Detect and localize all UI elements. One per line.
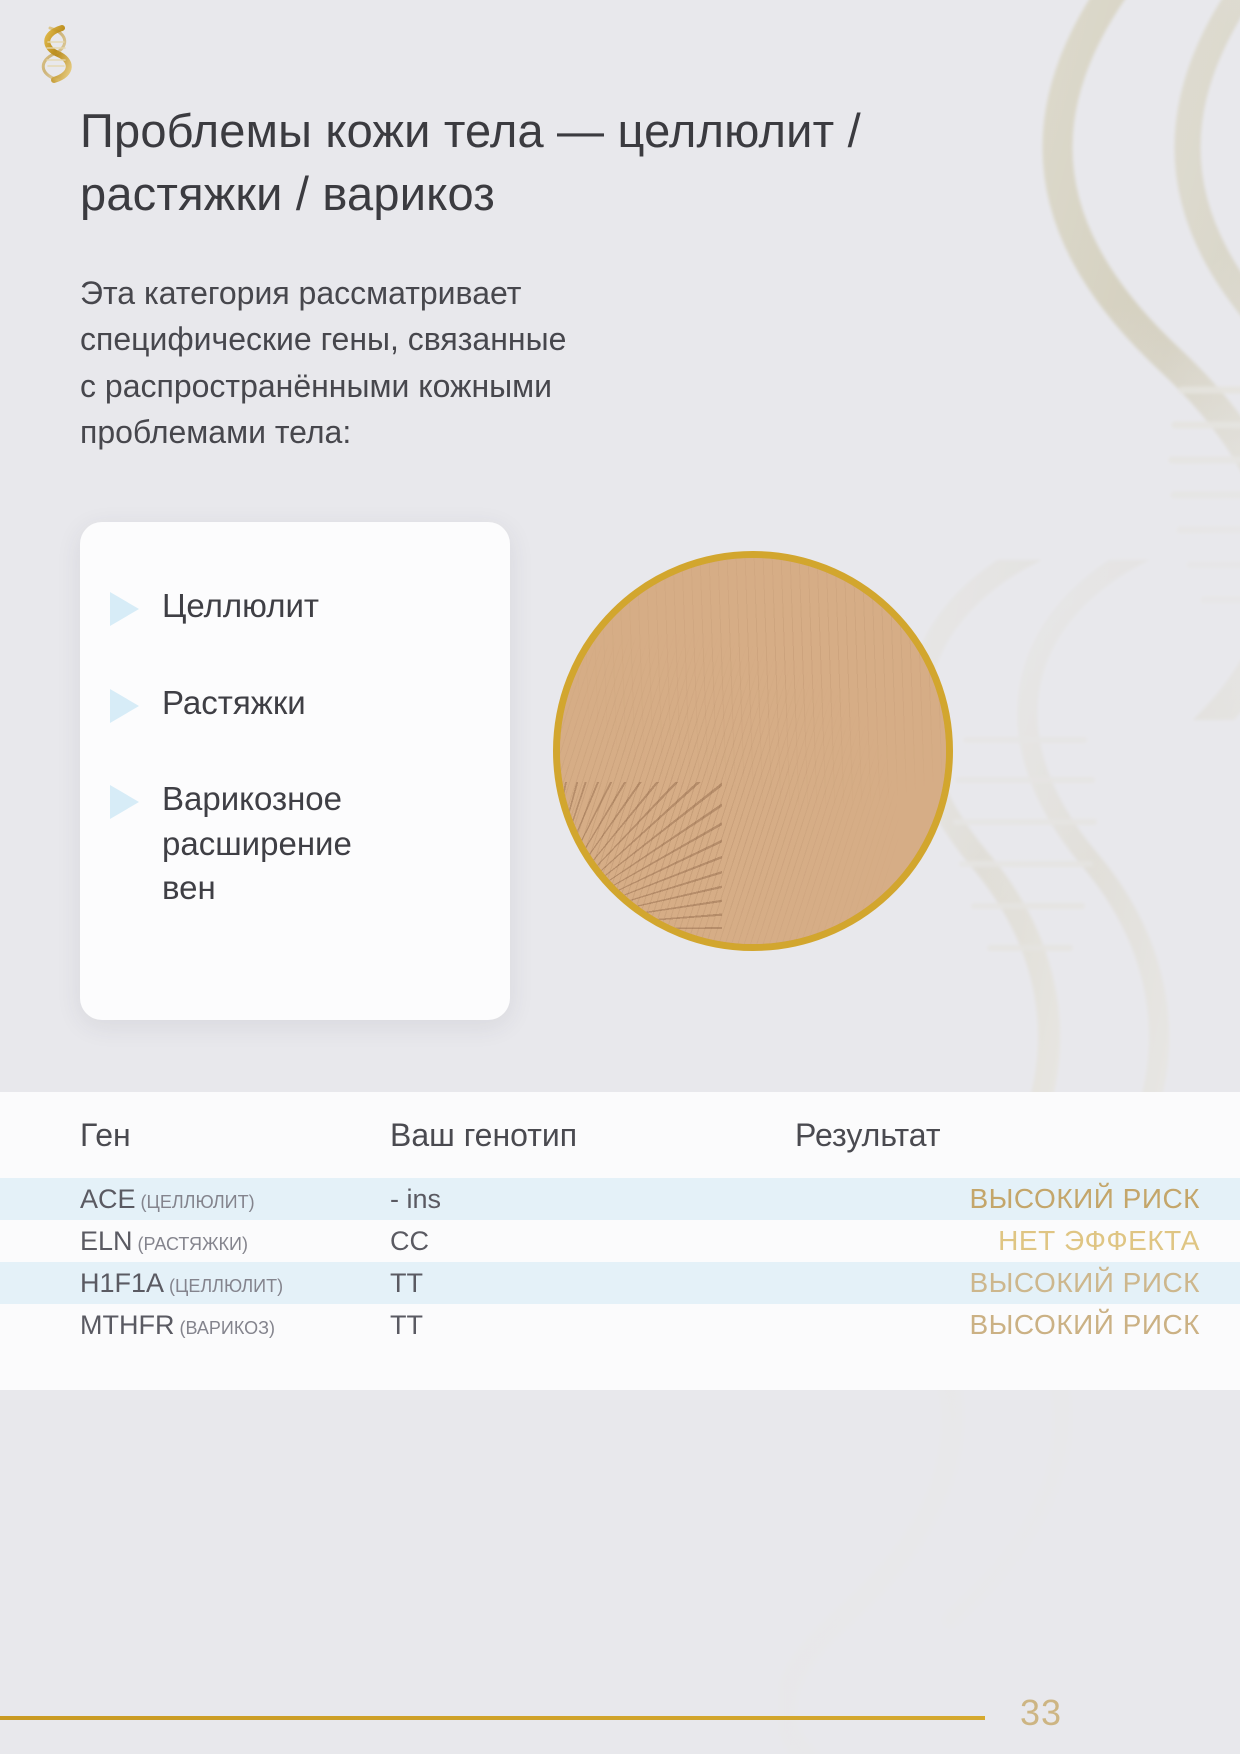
list-item: Варикозное расширение вен xyxy=(110,777,486,911)
cell-gene: ACE(ЦЕЛЛЮЛИТ) xyxy=(80,1184,390,1215)
gene-trait: (ЦЕЛЛЮЛИТ) xyxy=(169,1276,283,1296)
footer-divider xyxy=(0,1716,985,1720)
gene-trait: (ЦЕЛЛЮЛИТ) xyxy=(141,1192,255,1212)
gene-trait: (ВАРИКОЗ) xyxy=(179,1318,275,1338)
table-row: ELN(РАСТЯЖКИ) CC НЕТ ЭФФЕКТА xyxy=(0,1220,1240,1262)
table-header-row: Ген Ваш генотип Результат xyxy=(0,1092,1240,1178)
page-number: 33 xyxy=(1020,1692,1062,1734)
cell-genotype: - ins xyxy=(390,1184,795,1215)
column-header-gene: Ген xyxy=(80,1117,390,1154)
gene-name: MTHFR xyxy=(80,1310,174,1340)
gene-name: H1F1A xyxy=(80,1268,164,1298)
triangle-right-icon xyxy=(110,592,139,626)
triangle-right-icon xyxy=(110,689,139,723)
list-item-label: Варикозное расширение вен xyxy=(162,777,352,911)
gene-name: ACE xyxy=(80,1184,136,1214)
cell-result: ВЫСОКИЙ РИСК xyxy=(795,1267,1200,1299)
list-item: Растяжки xyxy=(110,681,486,726)
photo-crease-fan xyxy=(553,782,722,929)
column-header-result: Результат xyxy=(795,1117,1200,1154)
cell-gene: ELN(РАСТЯЖКИ) xyxy=(80,1226,390,1257)
table-row: MTHFR(ВАРИКОЗ) TT ВЫСОКИЙ РИСК xyxy=(0,1304,1240,1346)
list-item-label: Целлюлит xyxy=(162,584,319,629)
list-item: Целлюлит xyxy=(110,584,486,629)
table-row: H1F1A(ЦЕЛЛЮЛИТ) TT ВЫСОКИЙ РИСК xyxy=(0,1262,1240,1304)
conditions-card: Целлюлит Растяжки Варикозное расширение … xyxy=(80,522,510,1020)
table-row: ACE(ЦЕЛЛЮЛИТ) - ins ВЫСОКИЙ РИСК xyxy=(0,1178,1240,1220)
gene-name: ELN xyxy=(80,1226,133,1256)
cell-genotype: TT xyxy=(390,1310,795,1341)
column-header-genotype: Ваш генотип xyxy=(390,1117,795,1154)
cell-gene: MTHFR(ВАРИКОЗ) xyxy=(80,1310,390,1341)
triangle-right-icon xyxy=(110,785,139,819)
page-title: Проблемы кожи тела — целлюлит / растяжки… xyxy=(80,100,960,225)
genotype-table: Ген Ваш генотип Результат ACE(ЦЕЛЛЮЛИТ) … xyxy=(0,1092,1240,1390)
list-item-label: Растяжки xyxy=(162,681,306,726)
cell-result: ВЫСОКИЙ РИСК xyxy=(795,1183,1200,1215)
cell-result: НЕТ ЭФФЕКТА xyxy=(795,1225,1200,1257)
cell-genotype: TT xyxy=(390,1268,795,1299)
dna-helix-logo xyxy=(28,22,84,84)
conditions-list: Целлюлит Растяжки Варикозное расширение … xyxy=(110,584,486,911)
cell-result: ВЫСОКИЙ РИСК xyxy=(795,1309,1200,1341)
intro-paragraph: Эта категория рассматривает специфически… xyxy=(80,270,800,456)
gene-trait: (РАСТЯЖКИ) xyxy=(138,1234,248,1254)
cell-genotype: CC xyxy=(390,1226,795,1257)
cell-gene: H1F1A(ЦЕЛЛЮЛИТ) xyxy=(80,1268,390,1299)
skin-cellulite-photo xyxy=(553,551,953,951)
